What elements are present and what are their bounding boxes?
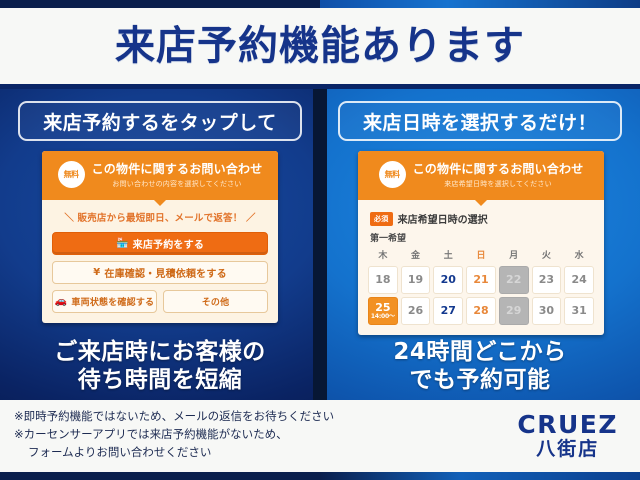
- left-panel: 来店予約するをタップして 無料 この物件に関するお問い合わせ お問い合わせの内容…: [0, 89, 320, 400]
- footer: ※即時予約機能ではないため、メールの返信をお待ちください ※カーセンサーアプリで…: [0, 400, 640, 472]
- free-badge: 無料: [58, 161, 85, 188]
- calendar-weekday: 金: [401, 248, 431, 263]
- brand-name: CRUEZ: [517, 412, 618, 438]
- page-title: 来店予約機能あります: [115, 26, 525, 66]
- banner-header: 来店予約機能あります: [0, 8, 640, 84]
- left-tagline: ご来店時にお客様の 待ち時間を短縮: [0, 338, 320, 394]
- left-tagline-line1: ご来店時にお客様の: [0, 338, 320, 366]
- calendar-day-number: 30: [539, 305, 554, 317]
- promo-banner: 来店予約機能あります 来店予約するをタップして 無料 この物件に関するお問い合わ…: [0, 0, 640, 480]
- datetime-card-subtitle: 来店希望日時を選択してください: [444, 179, 552, 189]
- right-tagline-line1: 24時間どこから: [320, 338, 640, 366]
- other-button[interactable]: その他: [163, 290, 268, 313]
- calendar-day-time: 14:00〜: [371, 314, 395, 320]
- branch-name: 八街店: [517, 440, 618, 460]
- right-pill-text: 来店日時を選択するだけ！: [363, 108, 597, 135]
- calendar-weekday: 水: [564, 248, 594, 263]
- right-tagline: 24時間どこから でも予約可能: [320, 338, 640, 394]
- calendar-day-selected[interactable]: 2514:00〜: [368, 297, 398, 325]
- calendar-day[interactable]: 21: [466, 266, 496, 294]
- calendar-day-number: 18: [375, 274, 390, 286]
- calendar-day-number: 25: [375, 302, 390, 314]
- calendar-weekday: 火: [532, 248, 562, 263]
- inquiry-card-body: ＼ 販売店から最短即日、メールで返答！ ／ 🏪 来店予約をする ¥ 在庫確認・見…: [42, 200, 278, 323]
- calendar-day[interactable]: 26: [401, 297, 431, 325]
- datetime-card-header-text: この物件に関するお問い合わせ 来店希望日時を選択してください: [413, 160, 584, 189]
- other-label: その他: [202, 295, 230, 308]
- right-tagline-line2: でも予約可能: [320, 366, 640, 394]
- store-icon: 🏪: [116, 239, 129, 249]
- inquiry-card-header-text: この物件に関するお問い合わせ お問い合わせの内容を選択してください: [92, 160, 263, 189]
- inquiry-card-title: この物件に関するお問い合わせ: [92, 160, 263, 177]
- calendar-day-number: 23: [539, 274, 554, 286]
- car-icon: 🚗: [55, 297, 68, 307]
- footer-note-2: ※カーセンサーアプリでは来店予約機能がないため、: [14, 426, 444, 444]
- calendar-weekday-row: 木金土日月火水: [368, 248, 594, 263]
- calendar-day[interactable]: 28: [466, 297, 496, 325]
- calendar-day[interactable]: 20: [433, 266, 463, 294]
- calendar-day-number: 22: [506, 274, 521, 286]
- footer-notes: ※即時予約機能ではないため、メールの返信をお待ちください ※カーセンサーアプリで…: [14, 408, 444, 461]
- calendar-day-number: 28: [473, 305, 488, 317]
- required-badge: 必須: [370, 212, 393, 226]
- inquiry-card: 無料 この物件に関するお問い合わせ お問い合わせの内容を選択してください ＼ 販…: [42, 151, 278, 323]
- brand-logo: CRUEZ 八街店: [517, 412, 618, 460]
- panels: 来店予約するをタップして 無料 この物件に関するお問い合わせ お問い合わせの内容…: [0, 89, 640, 400]
- footer-note-3: フォームよりお問い合わせください: [14, 444, 444, 462]
- reserve-visit-button[interactable]: 🏪 来店予約をする: [52, 232, 268, 255]
- calendar-day-number: 27: [441, 305, 456, 317]
- calendar-weekday: 日: [466, 248, 496, 263]
- calendar-day[interactable]: 19: [401, 266, 431, 294]
- reply-note: ＼ 販売店から最短即日、メールで返答！ ／: [52, 210, 268, 224]
- stock-quote-button[interactable]: ¥ 在庫確認・見積依頼をする: [52, 261, 268, 284]
- secondary-button-row: 🚗 車両状態を確認する その他: [52, 290, 268, 313]
- calendar-day-number: 19: [408, 274, 423, 286]
- calendar-day-number: 20: [441, 274, 456, 286]
- datetime-card-header: 無料 この物件に関するお問い合わせ 来店希望日時を選択してください: [358, 151, 604, 200]
- free-badge: 無料: [379, 161, 406, 188]
- panel-divider: [313, 89, 327, 400]
- datetime-card-title: この物件に関するお問い合わせ: [413, 160, 584, 177]
- calendar-section-header: 必須 来店希望日時の選択: [370, 211, 594, 226]
- calendar-weekday: 月: [499, 248, 529, 263]
- calendar-day-number: 31: [571, 305, 586, 317]
- bottom-strip: [0, 472, 640, 480]
- calendar-day-grid: 181920212223242514:00〜262728293031: [368, 266, 594, 325]
- calendar-section-label: 来店希望日時の選択: [398, 211, 488, 226]
- calendar-day-number: 29: [506, 305, 521, 317]
- calendar-day-number: 24: [571, 274, 586, 286]
- vehicle-condition-label: 車両状態を確認する: [71, 295, 154, 308]
- calendar-day: 29: [499, 297, 529, 325]
- calendar-day[interactable]: 31: [564, 297, 594, 325]
- calendar-day[interactable]: 30: [532, 297, 562, 325]
- datetime-card: 無料 この物件に関するお問い合わせ 来店希望日時を選択してください 必須 来店希…: [358, 151, 604, 335]
- inquiry-card-header: 無料 この物件に関するお問い合わせ お問い合わせの内容を選択してください: [42, 151, 278, 200]
- right-pill-label: 来店日時を選択するだけ！: [338, 101, 622, 141]
- calendar-day[interactable]: 27: [433, 297, 463, 325]
- calendar-day[interactable]: 23: [532, 266, 562, 294]
- top-strip-right: [320, 0, 640, 8]
- calendar-weekday: 木: [368, 248, 398, 263]
- calendar-day: 22: [499, 266, 529, 294]
- calendar-day-number: 21: [473, 274, 488, 286]
- left-tagline-line2: 待ち時間を短縮: [0, 366, 320, 394]
- calendar-weekday: 土: [433, 248, 463, 263]
- left-pill-label: 来店予約するをタップして: [18, 101, 302, 141]
- calendar-day[interactable]: 18: [368, 266, 398, 294]
- datetime-card-body: 必須 来店希望日時の選択 第一希望 木金土日月火水 18192021222324…: [358, 200, 604, 335]
- footer-note-1: ※即時予約機能ではないため、メールの返信をお待ちください: [14, 408, 444, 426]
- reserve-visit-label: 来店予約をする: [133, 236, 204, 251]
- left-pill-text: 来店予約するをタップして: [43, 108, 276, 135]
- vehicle-condition-button[interactable]: 🚗 車両状態を確認する: [52, 290, 157, 313]
- yen-icon: ¥: [93, 268, 100, 278]
- right-panel: 来店日時を選択するだけ！ 無料 この物件に関するお問い合わせ 来店希望日時を選択…: [320, 89, 640, 400]
- stock-quote-label: 在庫確認・見積依頼をする: [104, 265, 226, 280]
- preference-label: 第一希望: [370, 231, 594, 244]
- calendar-day[interactable]: 24: [564, 266, 594, 294]
- inquiry-card-subtitle: お問い合わせの内容を選択してください: [112, 179, 241, 189]
- calendar-day-number: 26: [408, 305, 423, 317]
